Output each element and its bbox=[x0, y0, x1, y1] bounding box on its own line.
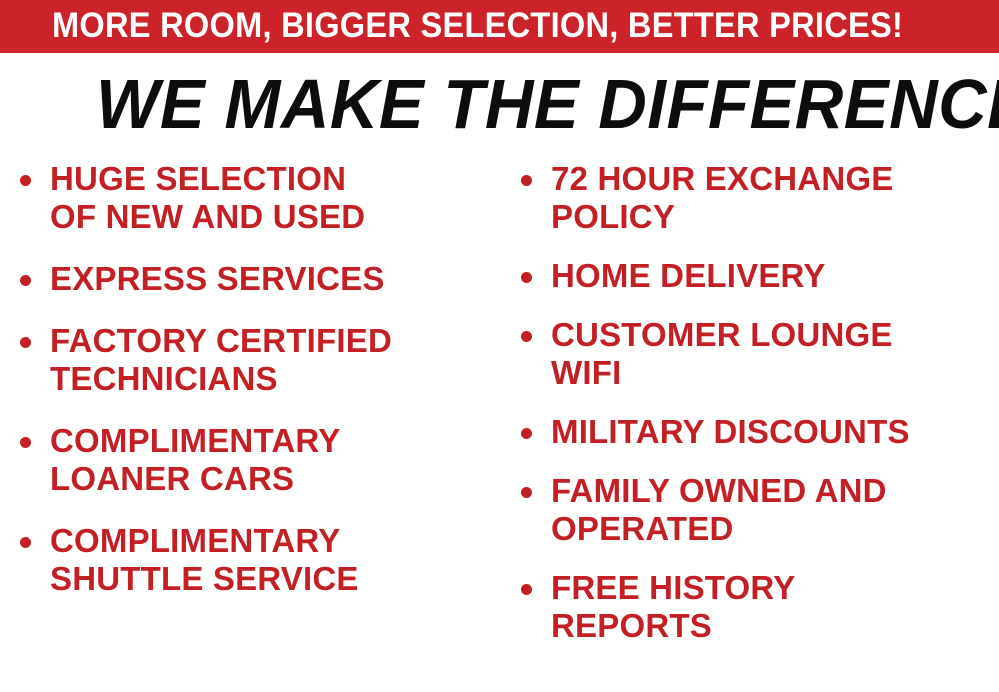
list-item-label: MILITARY DISCOUNTS bbox=[551, 413, 999, 451]
list-item-label: EXPRESS SERVICES bbox=[50, 260, 504, 298]
list-item: CUSTOMER LOUNGE WIFI bbox=[515, 316, 999, 392]
bullet-dot-icon bbox=[521, 584, 532, 595]
banner-headline-text: MORE ROOM, BIGGER SELECTION, BETTER PRIC… bbox=[52, 6, 889, 46]
bullet-dot-icon bbox=[20, 175, 31, 186]
benefits-list-left: HUGE SELECTION OF NEW AND USED EXPRESS S… bbox=[14, 160, 504, 622]
list-item: MILITARY DISCOUNTS bbox=[515, 413, 999, 451]
bullet-dot-icon bbox=[521, 175, 532, 186]
top-banner: MORE ROOM, BIGGER SELECTION, BETTER PRIC… bbox=[0, 0, 999, 53]
list-item-label: HUGE SELECTION OF NEW AND USED bbox=[50, 160, 504, 236]
list-item: 72 HOUR EXCHANGE POLICY bbox=[515, 160, 999, 236]
bullet-dot-icon bbox=[521, 272, 532, 283]
bullet-dot-icon bbox=[20, 275, 31, 286]
list-item: COMPLIMENTARY SHUTTLE SERVICE bbox=[14, 522, 504, 598]
list-item: FACTORY CERTIFIED TECHNICIANS bbox=[14, 322, 504, 398]
benefits-list-right: 72 HOUR EXCHANGE POLICY HOME DELIVERY CU… bbox=[515, 160, 999, 666]
bullet-dot-icon bbox=[20, 437, 31, 448]
list-item: EXPRESS SERVICES bbox=[14, 260, 504, 298]
page-title: WE MAKE THE DIFFERENCE bbox=[96, 66, 922, 142]
list-item-label: 72 HOUR EXCHANGE POLICY bbox=[551, 160, 999, 236]
list-item-label: FACTORY CERTIFIED TECHNICIANS bbox=[50, 322, 504, 398]
list-item-label: COMPLIMENTARY LOANER CARS bbox=[50, 422, 504, 498]
list-item: FAMILY OWNED AND OPERATED bbox=[515, 472, 999, 548]
bullet-dot-icon bbox=[20, 337, 31, 348]
list-item-label: COMPLIMENTARY SHUTTLE SERVICE bbox=[50, 522, 504, 598]
bullet-dot-icon bbox=[521, 331, 532, 342]
list-item-label: FREE HISTORY REPORTS bbox=[551, 569, 999, 645]
list-item-label: CUSTOMER LOUNGE WIFI bbox=[551, 316, 999, 392]
advertisement-graphic: MORE ROOM, BIGGER SELECTION, BETTER PRIC… bbox=[0, 0, 999, 692]
bullet-dot-icon bbox=[521, 428, 532, 439]
list-item-label: HOME DELIVERY bbox=[551, 257, 999, 295]
list-item: HUGE SELECTION OF NEW AND USED bbox=[14, 160, 504, 236]
list-item-label: FAMILY OWNED AND OPERATED bbox=[551, 472, 999, 548]
list-item: HOME DELIVERY bbox=[515, 257, 999, 295]
bullet-dot-icon bbox=[521, 487, 532, 498]
list-item: FREE HISTORY REPORTS bbox=[515, 569, 999, 645]
list-item: COMPLIMENTARY LOANER CARS bbox=[14, 422, 504, 498]
bullet-dot-icon bbox=[20, 537, 31, 548]
